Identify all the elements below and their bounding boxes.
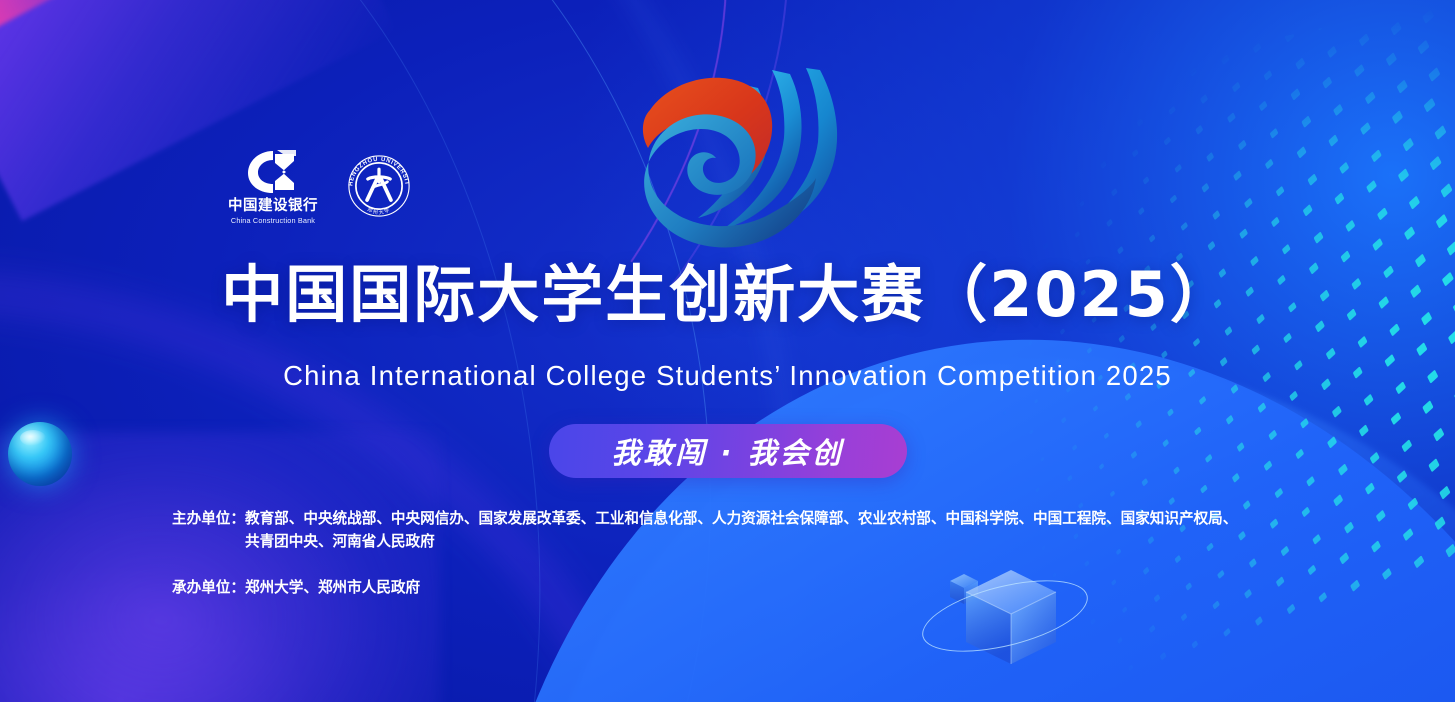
slogan-badge: 我敢闯 · 我会创 (549, 424, 907, 478)
undertaker-value: 郑州大学、郑州市人民政府 (245, 577, 1352, 600)
slogan-text: 我敢闯 · 我会创 (611, 430, 843, 472)
page-title-en: China International College Students’ In… (0, 362, 1455, 390)
pink-streak-decor (0, 0, 117, 34)
host-value: 教育部、中央统战部、中央网信办、国家发展改革委、工业和信息化部、人力资源社会保障… (245, 508, 1352, 553)
ccb-logo-icon (242, 148, 304, 196)
ccb-name-cn: 中国建设银行 (228, 199, 318, 214)
host-label: 主办单位： (172, 508, 245, 531)
partner-logos: 中国建设银行 China Construction Bank ZHENGZHOU… (228, 148, 414, 224)
ccb-name-en: China Construction Bank (231, 217, 315, 224)
undertaker-label: 承办单位： (172, 577, 245, 600)
zhengzhou-university-logo[interactable]: ZHENGZHOU UNIVERSITY 郑州大学 (344, 151, 414, 221)
competition-swirl-emblem-icon (620, 52, 870, 257)
host-value-line2: 共青团中央、河南省人民政府 (245, 531, 1352, 554)
page-title-cn: 中国国际大学生创新大赛（2025） (0, 264, 1455, 326)
zhengzhou-university-seal-icon: ZHENGZHOU UNIVERSITY 郑州大学 (344, 151, 414, 221)
cyan-sphere-decor (8, 422, 72, 486)
undertaker-row: 承办单位： 郑州大学、郑州市人民政府 (172, 577, 1352, 600)
competition-banner: 中国建设银行 China Construction Bank ZHENGZHOU… (0, 0, 1455, 702)
host-value-line1: 教育部、中央统战部、中央网信办、国家发展改革委、工业和信息化部、人力资源社会保障… (245, 510, 1237, 527)
host-row: 主办单位： 教育部、中央统战部、中央网信办、国家发展改革委、工业和信息化部、人力… (172, 508, 1352, 553)
organiser-block: 主办单位： 教育部、中央统战部、中央网信办、国家发展改革委、工业和信息化部、人力… (172, 508, 1352, 600)
ccb-logo[interactable]: 中国建设银行 China Construction Bank (228, 148, 318, 224)
